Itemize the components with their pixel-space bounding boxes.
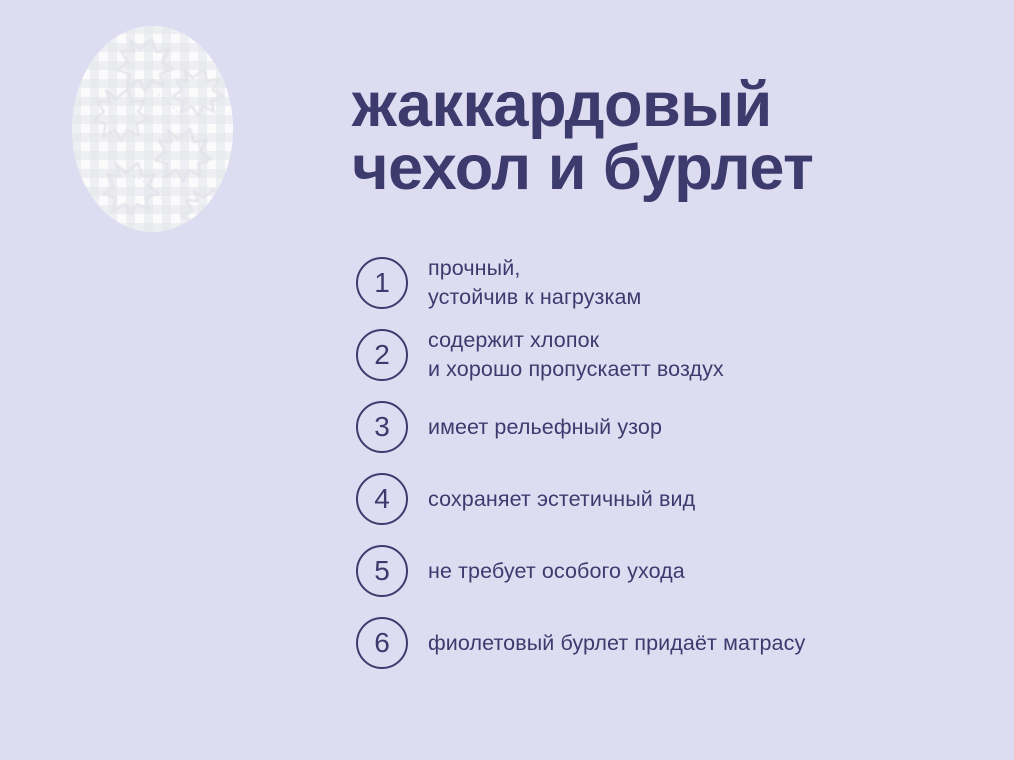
list-number-badge: 6 bbox=[356, 617, 408, 669]
fabric-photo-circle bbox=[72, 26, 233, 232]
list-item-label: имеет рельефный узор bbox=[428, 413, 662, 442]
list-item: 3 имеет рельефный узор bbox=[356, 391, 986, 463]
page-title: жаккардовый чехол и бурлет bbox=[352, 74, 992, 199]
list-item: 6 фиолетовый бурлет придаёт матрасу bbox=[356, 607, 986, 679]
list-item-label: сохраняет эстетичный вид bbox=[428, 485, 695, 514]
list-number-badge: 1 bbox=[356, 257, 408, 309]
title-line-2: чехол и бурлет bbox=[352, 137, 992, 199]
list-item-label: содержит хлопок и хорошо пропускаетт воз… bbox=[428, 326, 724, 383]
list-item: 5 не требует особого ухода bbox=[356, 535, 986, 607]
fabric-quilt-pattern bbox=[72, 26, 233, 232]
slide-root: жаккардовый чехол и бурлет 1 прочный, ус… bbox=[0, 0, 1014, 760]
title-line-1: жаккардовый bbox=[352, 74, 992, 136]
list-number-badge: 2 bbox=[356, 329, 408, 381]
list-number-badge: 3 bbox=[356, 401, 408, 453]
list-item: 4 сохраняет эстетичный вид bbox=[356, 463, 986, 535]
feature-list: 1 прочный, устойчив к нагрузкам 2 содерж… bbox=[356, 247, 986, 679]
list-item-label: не требует особого ухода bbox=[428, 557, 685, 586]
list-item-label: прочный, устойчив к нагрузкам bbox=[428, 254, 641, 311]
list-number-badge: 5 bbox=[356, 545, 408, 597]
list-item: 1 прочный, устойчив к нагрузкам bbox=[356, 247, 986, 319]
list-item: 2 содержит хлопок и хорошо пропускаетт в… bbox=[356, 319, 986, 391]
list-item-label: фиолетовый бурлет придаёт матрасу bbox=[428, 629, 805, 658]
list-number-badge: 4 bbox=[356, 473, 408, 525]
